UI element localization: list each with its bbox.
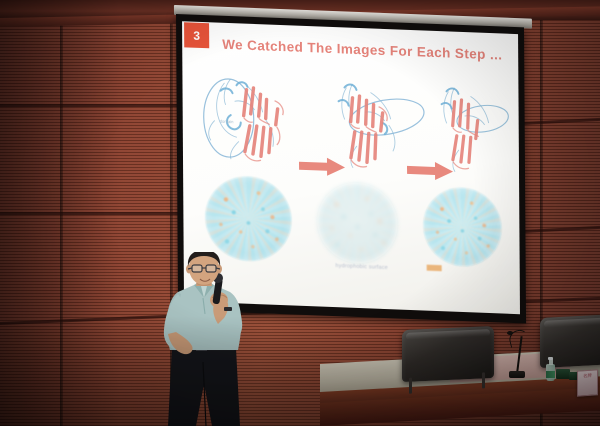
chair-headrest-lip xyxy=(544,317,600,328)
capsid-edge xyxy=(205,175,292,262)
water-bottle xyxy=(546,355,556,381)
slide-title: We Catched The Images For Each Step ... xyxy=(222,37,502,63)
step-arrow-icon xyxy=(299,156,345,178)
name-card: 名牌 xyxy=(577,369,598,396)
capsid-surface-3 xyxy=(423,187,502,268)
desk-clutter xyxy=(556,369,570,379)
step-arrow-icon xyxy=(407,160,453,182)
wall-seam xyxy=(0,104,180,107)
gooseneck-microphone xyxy=(508,330,534,374)
presenter xyxy=(148,252,260,426)
capsid-surface-2 xyxy=(317,181,398,264)
chair-headrest-lip xyxy=(406,329,490,340)
bottle-label xyxy=(546,371,555,378)
photograph-scene: 3 We Catched The Images For Each Step ..… xyxy=(0,0,600,426)
chair-backrest xyxy=(402,326,494,382)
capsid-edge xyxy=(317,181,398,264)
capsid-edge xyxy=(423,187,502,268)
microphone-base xyxy=(509,371,525,378)
slide-number-badge: 3 xyxy=(184,22,209,48)
microphone-head xyxy=(507,331,513,335)
chair-leg xyxy=(482,372,485,388)
svg-text:domain: domain xyxy=(220,119,234,125)
chair-left xyxy=(402,326,494,382)
bottle-cap xyxy=(548,357,553,361)
caption-color-chip xyxy=(427,265,442,272)
name-card-text: 名牌 xyxy=(580,372,595,393)
wall-seam xyxy=(0,212,180,215)
capsid-surface-1 xyxy=(205,175,292,262)
chair-leg xyxy=(409,378,412,394)
